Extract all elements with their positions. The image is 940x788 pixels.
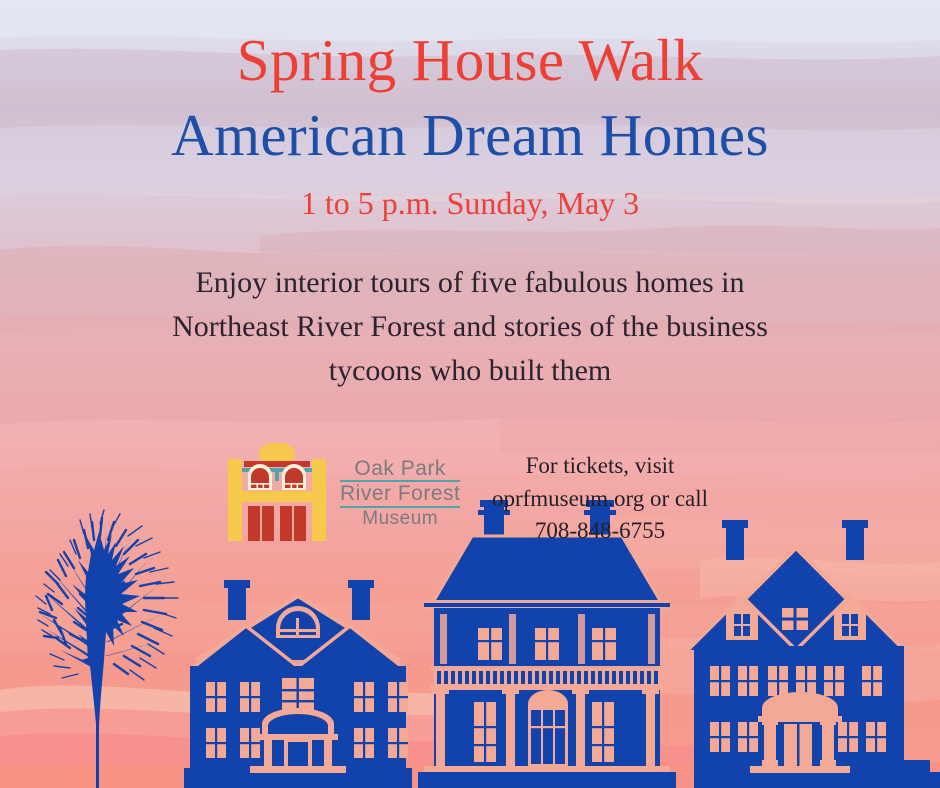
house-left — [184, 580, 412, 788]
tree-silhouette — [36, 510, 178, 788]
poster-text-block: Spring House Walk American Dream Homes 1… — [0, 0, 940, 393]
description-line-1: Enjoy interior tours of five fabulous ho… — [0, 261, 940, 305]
description-line-3: tycoons who built them — [0, 349, 940, 393]
poster-description: Enjoy interior tours of five fabulous ho… — [0, 261, 940, 393]
museum-logo-wordmark: Oak Park River Forest Museum — [340, 458, 460, 528]
logo-line-river-forest: River Forest — [340, 483, 460, 504]
poster-title-line1: Spring House Walk — [0, 31, 940, 90]
museum-building-icon — [222, 443, 332, 543]
house-right — [688, 520, 940, 788]
logo-and-tickets-row: Oak Park River Forest Museum For tickets… — [0, 438, 940, 548]
poster-title-line2: American Dream Homes — [0, 106, 940, 165]
logo-line-oak-park: Oak Park — [340, 458, 460, 479]
ticket-line-1: For tickets, visit — [470, 450, 730, 483]
museum-logo: Oak Park River Forest Museum — [222, 440, 484, 546]
poster-canvas: Spring House Walk American Dream Homes 1… — [0, 0, 940, 788]
description-line-2: Northeast River Forest and stories of th… — [0, 305, 940, 349]
logo-line-museum: Museum — [340, 509, 460, 528]
ticket-info: For tickets, visit oprfmuseum.org or cal… — [470, 450, 730, 548]
poster-time-line: 1 to 5 p.m. Sunday, May 3 — [0, 187, 940, 219]
house-middle-upper-windows — [478, 628, 616, 660]
ticket-phone: 708-848-6755 — [470, 515, 730, 548]
ticket-line-2: oprfmuseum.org or call — [470, 483, 730, 516]
